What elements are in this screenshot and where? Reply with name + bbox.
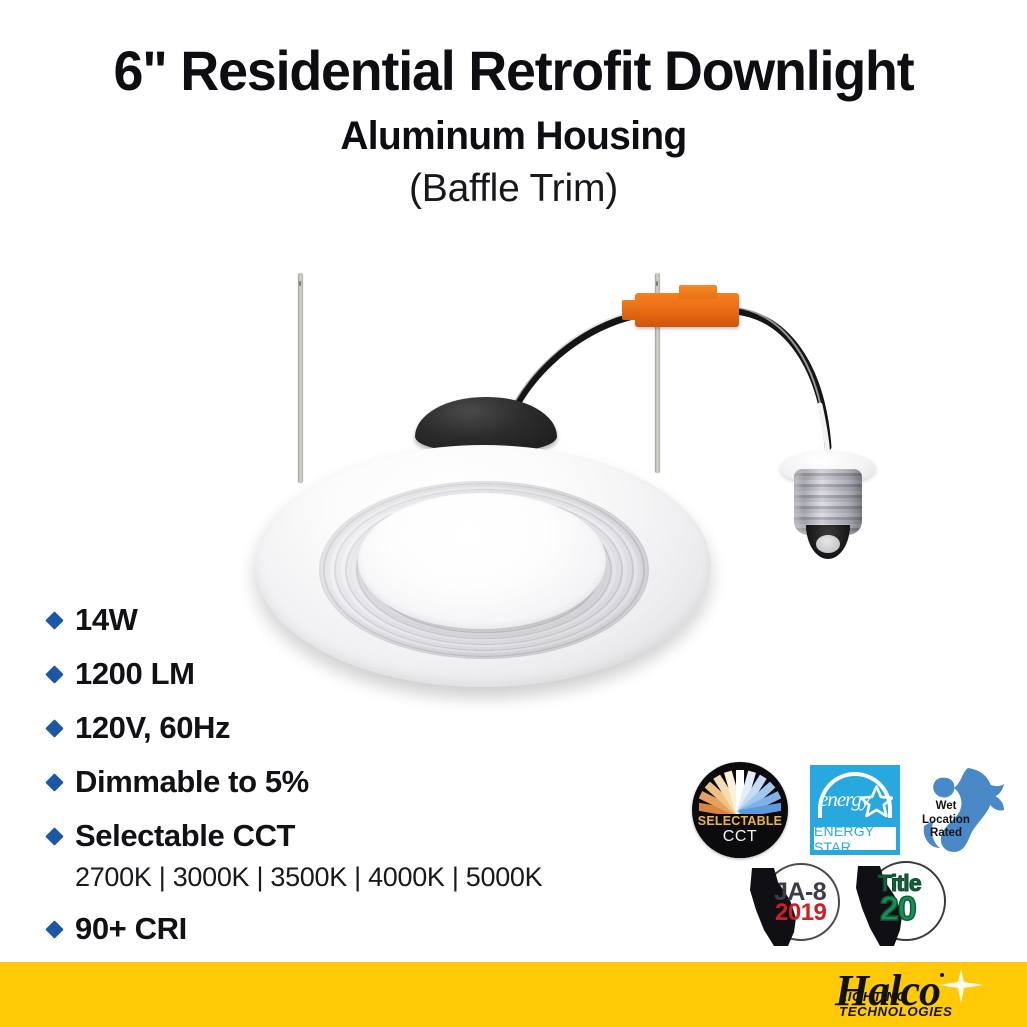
- feature-item-wattage: 14W: [48, 604, 608, 635]
- diamond-bullet-icon: [45, 773, 63, 791]
- feature-list: 14W 1200 LM 120V, 60Hz Dimmable to 5% Se…: [48, 604, 608, 944]
- halco-logo: Halco LIGHTING TECHNOLOGIES: [825, 963, 1005, 1023]
- page-title: 6" Residential Retrofit Downlight: [21, 42, 1007, 101]
- page-subtitle: Aluminum Housing: [15, 115, 1011, 157]
- wet-location-line1: Wet: [916, 800, 976, 814]
- selectable-cct-badge-icon: SELECTABLE CCT: [692, 762, 788, 858]
- feature-label: 90+ CRI: [75, 913, 187, 944]
- cct-sunburst: [699, 770, 781, 814]
- feature-item-dimming: Dimmable to 5%: [48, 766, 608, 797]
- page-subtitle-secondary: (Baffle Trim): [0, 169, 1027, 210]
- energy-star-badge-icon: energy ENERGY STAR: [810, 765, 900, 855]
- brand-tagline: LIGHTING TECHNOLOGIES: [839, 989, 1008, 1019]
- cct-badge-line2: CCT: [692, 828, 788, 846]
- feature-label: Dimmable to 5%: [75, 766, 309, 797]
- ja8-badge-icon: JA-8 2019: [744, 862, 840, 946]
- footer-bar: Halco LIGHTING TECHNOLOGIES: [0, 962, 1027, 1027]
- wet-location-line2: Location: [916, 814, 976, 828]
- energy-star-band: ENERGY STAR: [814, 827, 896, 850]
- diamond-bullet-icon: [45, 719, 63, 737]
- energy-star-band-label: ENERGY STAR: [814, 823, 896, 855]
- e26-socket-adapter: [780, 451, 876, 563]
- cct-badge-line1: SELECTABLE: [692, 814, 788, 828]
- diamond-bullet-icon: [45, 665, 63, 683]
- wet-location-badge-icon: Wet Location Rated: [910, 760, 1010, 860]
- product-marketing-page: 6" Residential Retrofit Downlight Alumin…: [0, 0, 1027, 1027]
- ja8-line2: 2019: [775, 899, 826, 927]
- diamond-bullet-icon: [45, 611, 63, 629]
- star-icon: [860, 785, 893, 818]
- header-block: 6" Residential Retrofit Downlight Alumin…: [0, 42, 1027, 210]
- cct-options-list: 2700K | 3000K | 3500K | 4000K | 5000K: [75, 862, 608, 893]
- certification-badges: SELECTABLE CCT energy ENERGY STAR Wet: [692, 760, 1012, 945]
- title20-badge-icon: Title 20: [850, 860, 946, 946]
- feature-label: 120V, 60Hz: [75, 712, 230, 743]
- feature-label: 1200 LM: [75, 658, 195, 689]
- feature-item-voltage: 120V, 60Hz: [48, 712, 608, 743]
- wet-location-line3: Rated: [916, 827, 976, 841]
- title20-line2: 20: [880, 890, 916, 929]
- orange-quick-connector-icon: [635, 293, 739, 327]
- feature-label: 14W: [75, 604, 138, 635]
- wet-location-label: Wet Location Rated: [916, 800, 976, 841]
- feature-item-cri: 90+ CRI: [48, 913, 608, 944]
- spring-clip-left-icon: [298, 273, 303, 483]
- diamond-bullet-icon: [45, 920, 63, 938]
- socket-tip: [806, 525, 850, 559]
- feature-item-lumens: 1200 LM: [48, 658, 608, 689]
- diamond-bullet-icon: [45, 827, 63, 845]
- feature-item-cct: Selectable CCT: [48, 820, 608, 851]
- feature-label: Selectable CCT: [75, 820, 295, 851]
